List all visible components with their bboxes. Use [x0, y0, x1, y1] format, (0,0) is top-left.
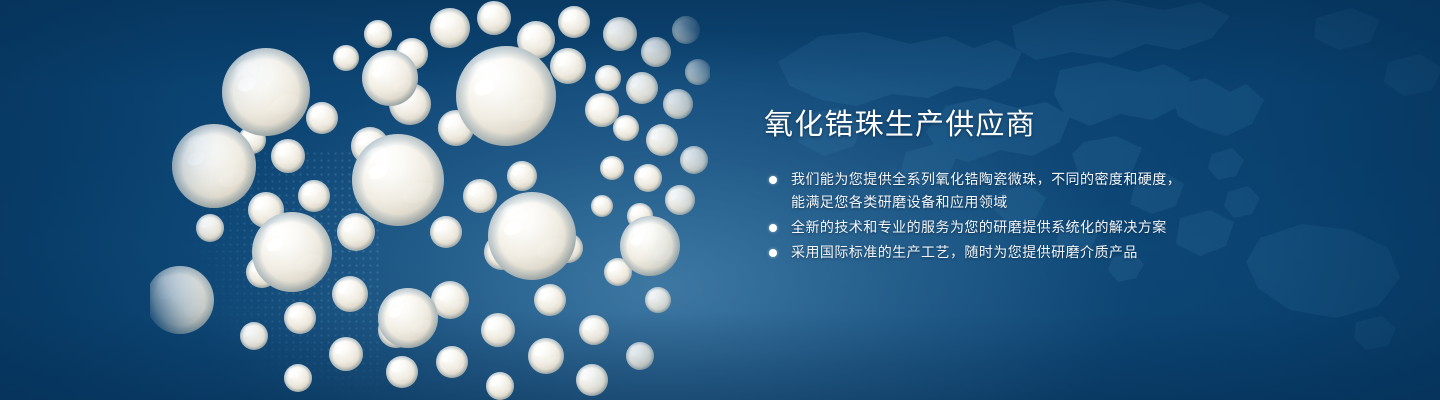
bullet-text-line2: 能满足您各类研磨设备和应用领域	[791, 191, 1284, 214]
bullet-dot-icon	[769, 224, 777, 232]
list-item: 全新的技术和专业的服务为您的研磨提供系统化的解决方案	[764, 216, 1284, 239]
banner-copy: 氧化锆珠生产供应商 我们能为您提供全系列氧化锆陶瓷微珠，不同的密度和硬度， 能满…	[764, 108, 1284, 266]
page-title: 氧化锆珠生产供应商	[764, 108, 1284, 142]
hero-banner: 氧化锆珠生产供应商 我们能为您提供全系列氧化锆陶瓷微珠，不同的密度和硬度， 能满…	[0, 0, 1440, 400]
list-item: 我们能为您提供全系列氧化锆陶瓷微珠，不同的密度和硬度， 能满足您各类研磨设备和应…	[764, 168, 1284, 214]
list-item: 采用国际标准的生产工艺，随时为您提供研磨介质产品	[764, 241, 1284, 264]
bullet-text-line1: 全新的技术和专业的服务为您的研磨提供系统化的解决方案	[791, 219, 1167, 235]
bullet-text-line1: 我们能为您提供全系列氧化锆陶瓷微珠，不同的密度和硬度，	[791, 171, 1181, 187]
bullet-dot-icon	[769, 249, 777, 257]
bullet-dot-icon	[769, 176, 777, 184]
bullet-text-line1: 采用国际标准的生产工艺，随时为您提供研磨介质产品	[791, 244, 1138, 260]
feature-bullet-list: 我们能为您提供全系列氧化锆陶瓷微珠，不同的密度和硬度， 能满足您各类研磨设备和应…	[764, 168, 1284, 264]
